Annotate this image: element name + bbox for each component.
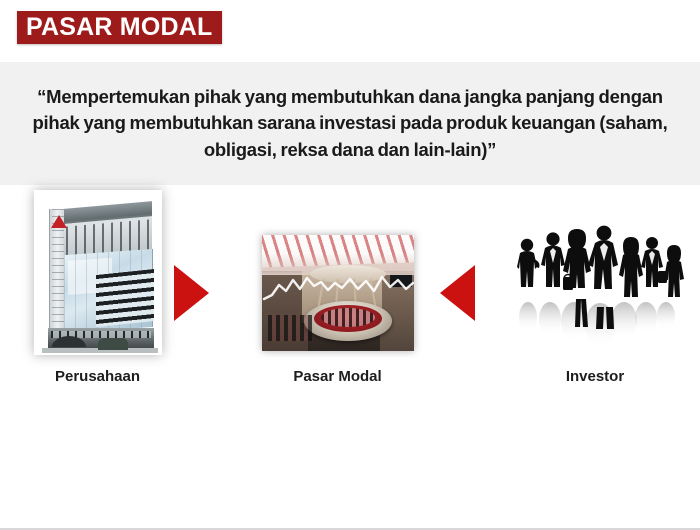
caption-pasar-modal: Pasar Modal bbox=[240, 368, 435, 386]
trading-floor-crowd bbox=[268, 315, 312, 341]
arrow-left-icon bbox=[440, 265, 475, 321]
building-red-logo-icon bbox=[51, 215, 67, 228]
diagram-node-label: Perusahaan bbox=[55, 368, 140, 385]
stock-chart-line-overlay bbox=[262, 269, 414, 305]
definition-quote: “Mempertemukan pihak yang membutuhkan da… bbox=[12, 84, 688, 163]
caption-perusahaan: Perusahaan bbox=[20, 368, 175, 386]
stock-exchange-trading-floor-photo bbox=[262, 235, 414, 351]
building-landscaping bbox=[98, 338, 128, 350]
business-people-silhouettes bbox=[500, 215, 690, 355]
diagram-node-label: Investor bbox=[566, 368, 624, 385]
quote-band: “Mempertemukan pihak yang membutuhkan da… bbox=[0, 62, 700, 185]
office-building-photo bbox=[34, 190, 162, 355]
investors-silhouette-svg bbox=[500, 215, 690, 355]
diagram-node-pasar-modal bbox=[240, 235, 435, 371]
building-balcony-fins bbox=[96, 269, 154, 327]
page-title: PASAR MODAL bbox=[26, 15, 212, 40]
flow-diagram: Perusahaan Pasar Modal Investor bbox=[0, 190, 700, 400]
diagram-node-perusahaan bbox=[20, 190, 175, 368]
slide: PASAR MODAL “Mempertemukan pihak yang me… bbox=[0, 0, 700, 530]
arrow-right-icon bbox=[174, 265, 209, 321]
diagram-node-investor bbox=[495, 215, 695, 358]
diagram-node-label: Pasar Modal bbox=[293, 368, 381, 385]
title-banner: PASAR MODAL bbox=[17, 11, 222, 44]
trading-ring-desks bbox=[321, 308, 375, 327]
caption-investor: Investor bbox=[495, 368, 695, 386]
